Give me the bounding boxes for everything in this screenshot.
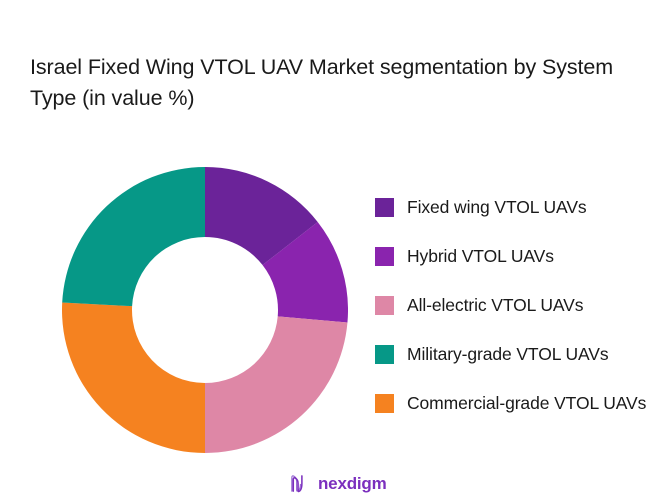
legend-item-label: Commercial-grade VTOL UAVs — [407, 392, 646, 415]
legend-item-all-electric[interactable]: All-electric VTOL UAVs — [375, 294, 665, 317]
donut-slice[interactable] — [62, 303, 205, 453]
legend-swatch-icon — [375, 247, 394, 266]
legend-item-label: Hybrid VTOL UAVs — [407, 245, 554, 268]
legend-item-hybrid[interactable]: Hybrid VTOL UAVs — [375, 245, 665, 268]
legend-swatch-icon — [375, 345, 394, 364]
legend-item-label: Fixed wing VTOL UAVs — [407, 196, 587, 219]
legend-swatch-icon — [375, 394, 394, 413]
nexdigm-logo-icon — [288, 472, 311, 495]
legend-swatch-icon — [375, 296, 394, 315]
donut-chart-svg — [62, 167, 348, 453]
chart-title: Israel Fixed Wing VTOL UAV Market segmen… — [30, 52, 630, 114]
brand-logo: nexdigm — [288, 472, 387, 495]
donut-slice[interactable] — [62, 167, 205, 306]
brand-name-text: nexdigm — [318, 474, 387, 494]
legend-item-military-grade[interactable]: Military-grade VTOL UAVs — [375, 343, 665, 366]
chart-legend: Fixed wing VTOL UAVs Hybrid VTOL UAVs Al… — [375, 196, 665, 441]
legend-swatch-icon — [375, 198, 394, 217]
legend-item-commercial-grade[interactable]: Commercial-grade VTOL UAVs — [375, 392, 665, 415]
legend-item-fixed-wing[interactable]: Fixed wing VTOL UAVs — [375, 196, 665, 219]
donut-slice[interactable] — [205, 316, 347, 453]
donut-chart — [62, 167, 348, 453]
legend-item-label: Military-grade VTOL UAVs — [407, 343, 609, 366]
legend-item-label: All-electric VTOL UAVs — [407, 294, 583, 317]
